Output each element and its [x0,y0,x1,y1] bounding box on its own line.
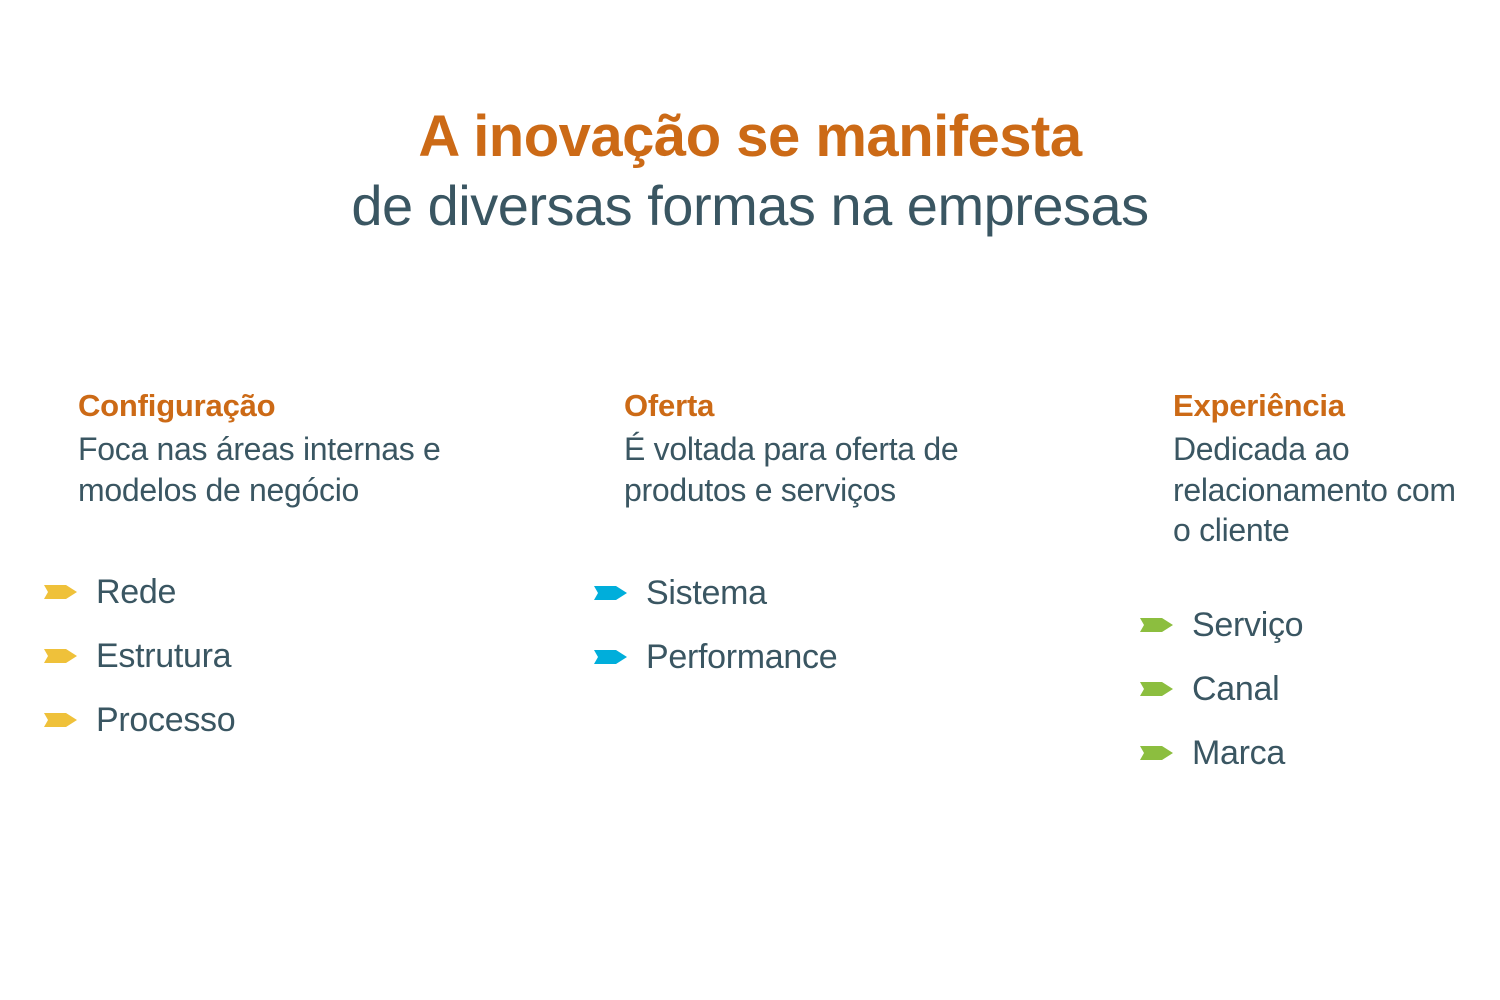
list-item-label: Marca [1192,736,1285,770]
list-item[interactable]: Processo [44,688,538,752]
column-description: É voltada para oferta de produtos e serv… [624,429,1074,511]
page-title: A inovação se manifesta de diversas form… [0,108,1500,234]
arrow-flag-icon [594,646,628,668]
list-item[interactable]: Performance [594,625,1074,689]
column-configuracao: Configuração Foca nas áreas internas e m… [78,390,538,752]
arrow-flag-icon [44,709,78,731]
bullet-list-oferta: SistemaPerformance [594,561,1074,689]
list-item[interactable]: Estrutura [44,624,538,688]
list-item[interactable]: Marca [1140,721,1473,785]
list-item[interactable]: Canal [1140,657,1473,721]
arrow-flag-icon [44,645,78,667]
column-heading: Configuração [78,390,538,423]
arrow-flag-icon [1140,742,1174,764]
arrow-flag-icon [1140,614,1174,636]
column-description: Dedicada ao relacionamento com o cliente [1173,429,1473,552]
arrow-flag-icon [594,582,628,604]
list-item-label: Processo [96,703,235,737]
column-heading: Oferta [624,390,1074,423]
bullet-list-configuracao: RedeEstruturaProcesso [44,560,538,752]
list-item[interactable]: Sistema [594,561,1074,625]
list-item-label: Canal [1192,672,1279,706]
list-item-label: Estrutura [96,639,231,673]
column-oferta: Oferta É voltada para oferta de produtos… [624,390,1074,689]
title-line-primary: A inovação se manifesta [0,108,1500,166]
column-experiencia: Experiência Dedicada ao relacionamento c… [1173,390,1473,785]
title-line-secondary: de diversas formas na empresas [0,178,1500,234]
bullet-list-experiencia: ServiçoCanalMarca [1140,593,1473,785]
column-description: Foca nas áreas internas e modelos de neg… [78,429,538,511]
column-heading: Experiência [1173,390,1473,423]
arrow-flag-icon [44,581,78,603]
slide-canvas: A inovação se manifesta de diversas form… [0,0,1500,1000]
list-item-label: Serviço [1192,608,1303,642]
list-item[interactable]: Serviço [1140,593,1473,657]
columns-container: Configuração Foca nas áreas internas e m… [0,390,1500,950]
list-item-label: Sistema [646,576,767,610]
list-item-label: Performance [646,640,837,674]
list-item-label: Rede [96,575,176,609]
list-item[interactable]: Rede [44,560,538,624]
arrow-flag-icon [1140,678,1174,700]
